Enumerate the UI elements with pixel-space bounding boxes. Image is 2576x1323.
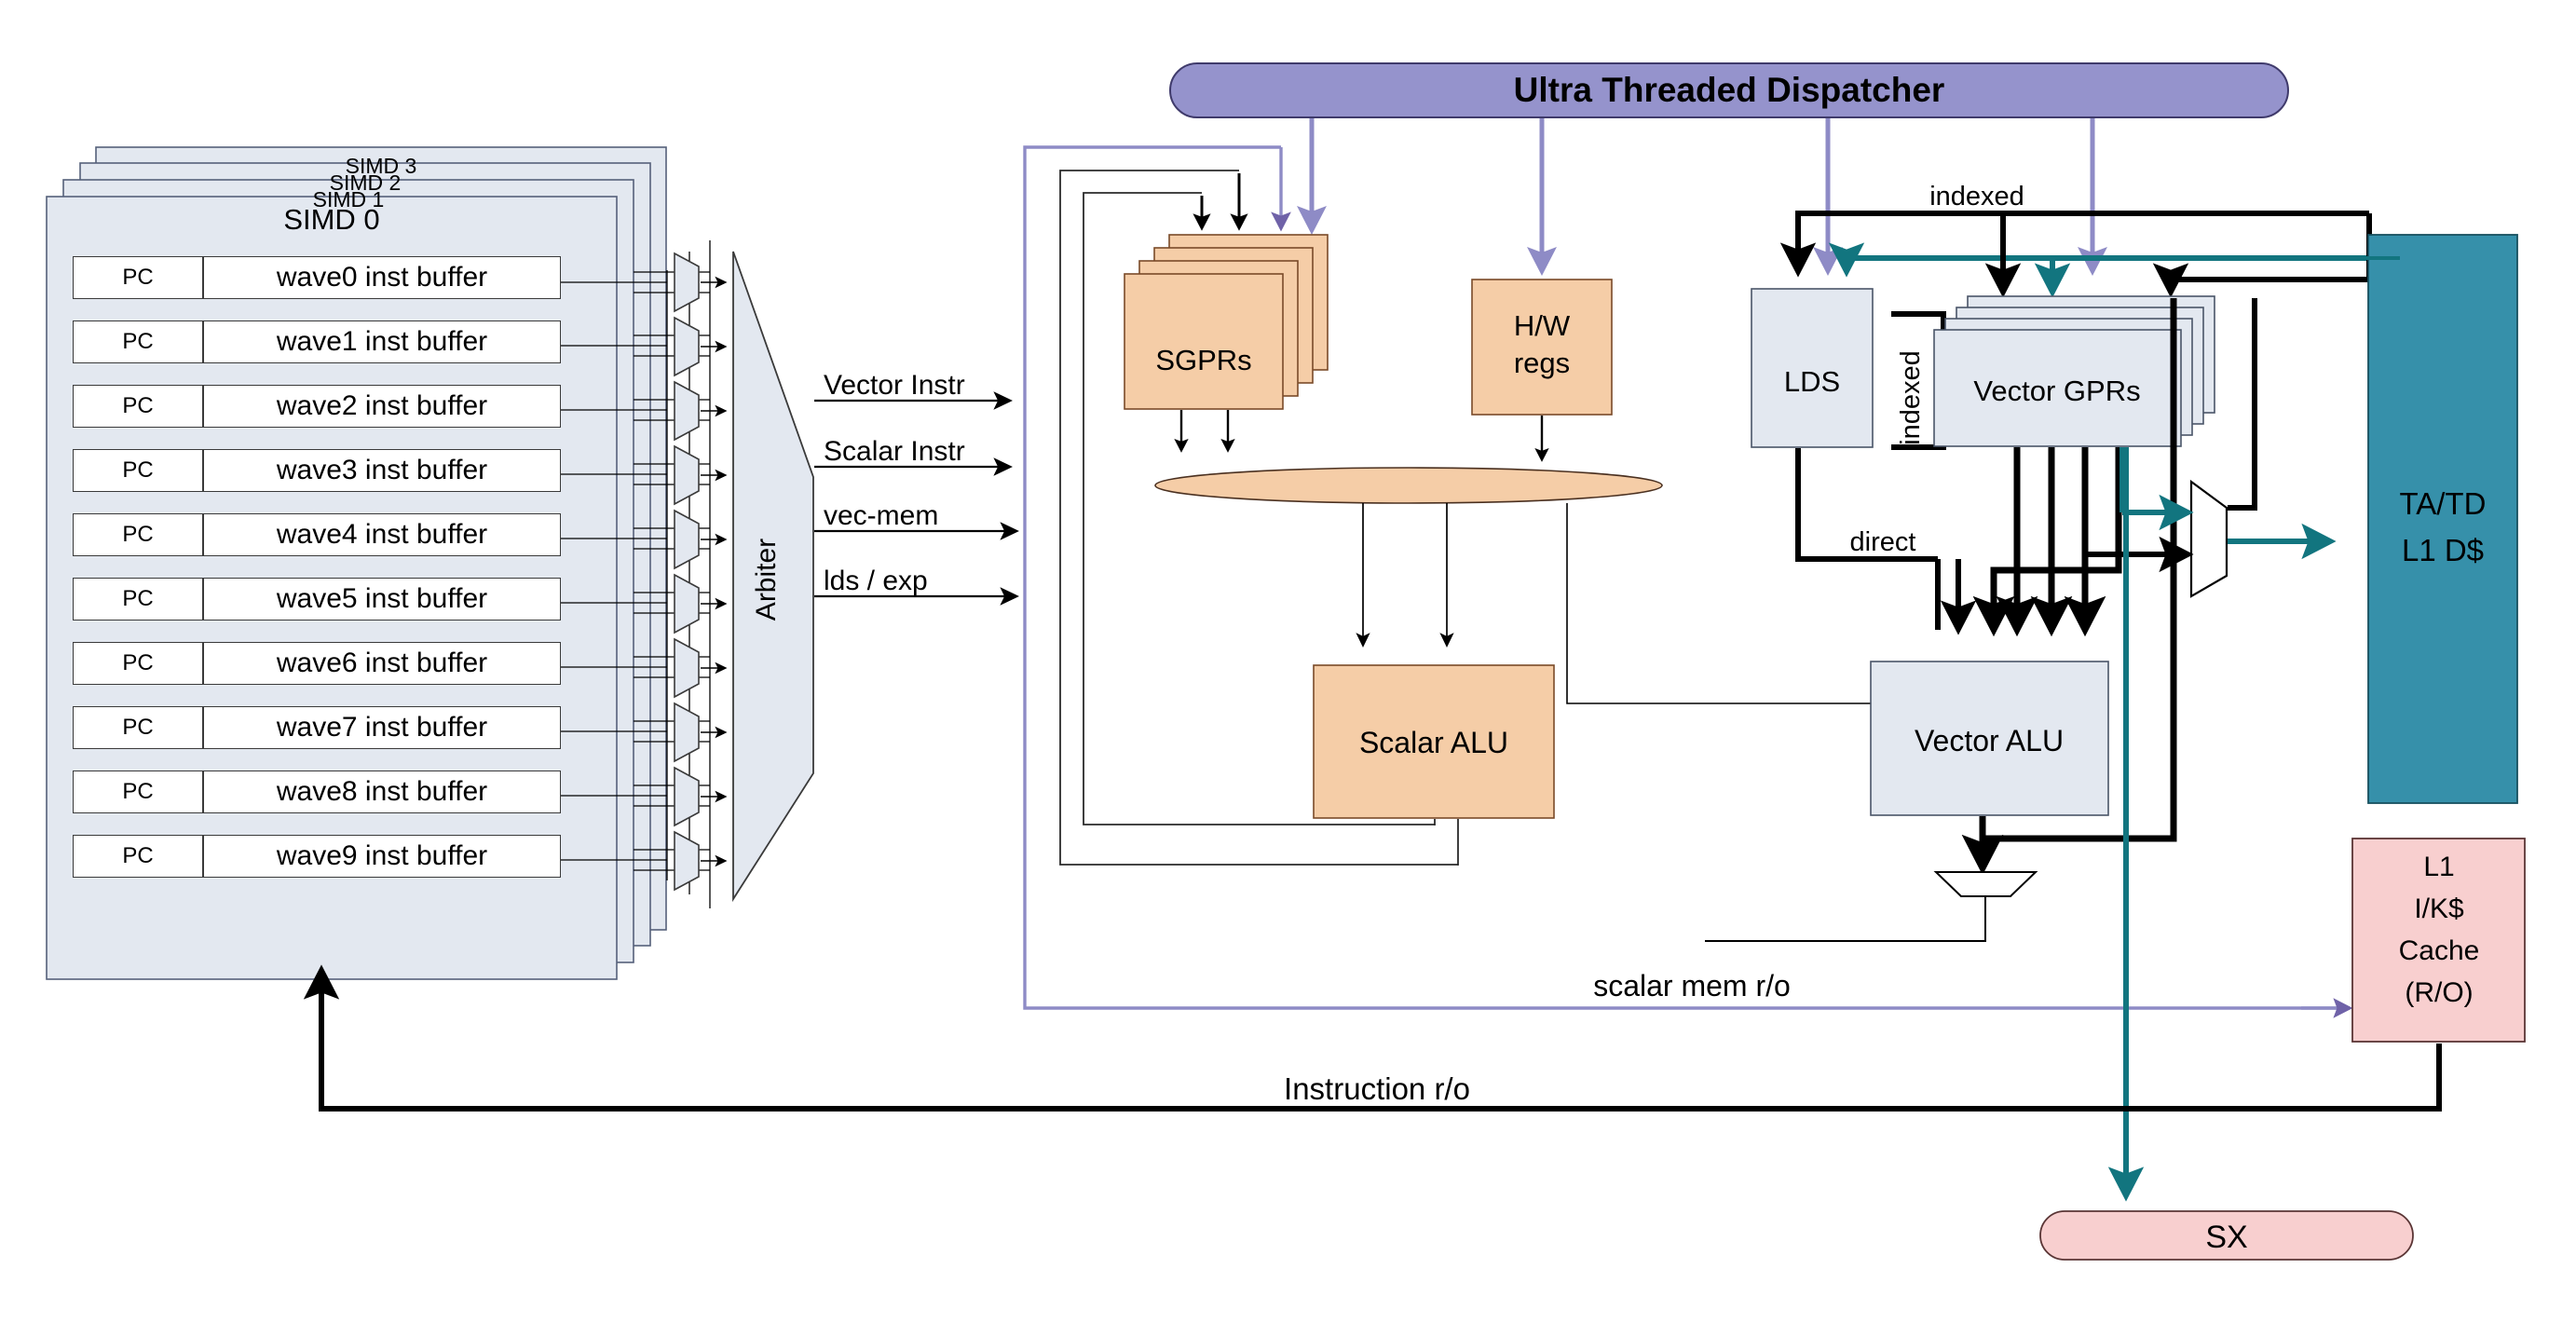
wave-row: PCwave6 inst buffer	[73, 642, 561, 685]
pc-label: PC	[122, 265, 153, 291]
pc-label: PC	[122, 393, 153, 419]
pc-box: PC	[73, 706, 203, 749]
wave-row: PCwave1 inst buffer	[73, 321, 561, 363]
pc-box: PC	[73, 513, 203, 556]
ta-td-label-line2: L1 D$	[2402, 533, 2484, 567]
wave-row: PCwave2 inst buffer	[73, 385, 561, 428]
hw-regs-label-line2: regs	[1514, 347, 1570, 379]
wave-inst-buffer-box: wave5 inst buffer	[203, 578, 561, 621]
wave-inst-buffer-box: wave6 inst buffer	[203, 642, 561, 685]
lds-label: LDS	[1784, 365, 1840, 398]
wave-inst-buffer-box: wave2 inst buffer	[203, 385, 561, 428]
wave-row: PCwave7 inst buffer	[73, 706, 561, 749]
pc-label: PC	[122, 779, 153, 805]
pc-box: PC	[73, 578, 203, 621]
l1-ik-label-line3: Cache	[2399, 935, 2480, 966]
wave-inst-buffer-label: wave0 inst buffer	[277, 262, 487, 293]
scalar-mem-ro-label: scalar mem r/o	[1593, 969, 1791, 1002]
sx-label: SX	[2205, 1220, 2247, 1255]
wave-inst-buffer-label: wave4 inst buffer	[277, 519, 487, 551]
instruction-ro-label: Instruction r/o	[1284, 1071, 1470, 1106]
hw-regs-label-line1: H/W	[1514, 309, 1571, 342]
arbiter-label: Arbiter	[751, 539, 782, 621]
pc-label: PC	[122, 843, 153, 869]
wave-inst-buffer-box: wave4 inst buffer	[203, 513, 561, 556]
pc-label: PC	[122, 457, 153, 484]
arbiter-output-scalar-instr: Scalar Instr	[824, 436, 965, 467]
gpu-architecture-diagram: SIMD 3 SIMD 2 SIMD 1 SIMD 0 Arbiter Vect…	[0, 0, 2576, 1323]
wave-inst-buffer-box: wave9 inst buffer	[203, 835, 561, 878]
wave-row: PCwave4 inst buffer	[73, 513, 561, 556]
wave-inst-buffer-label: wave9 inst buffer	[277, 840, 487, 872]
wave-inst-buffer-box: wave1 inst buffer	[203, 321, 561, 363]
pc-box: PC	[73, 321, 203, 363]
pc-box: PC	[73, 642, 203, 685]
arbiter-output-vector-instr: Vector Instr	[824, 370, 965, 401]
l1-ik-label-line1: L1	[2423, 852, 2454, 882]
wave-row: PCwave5 inst buffer	[73, 578, 561, 621]
pc-box: PC	[73, 449, 203, 492]
sgprs-label: SGPRs	[1155, 344, 1251, 376]
wave-inst-buffer-label: wave3 inst buffer	[277, 455, 487, 486]
pc-label: PC	[122, 650, 153, 676]
vector-gprs-label: Vector GPRs	[1973, 375, 2140, 407]
dispatcher-label: Ultra Threaded Dispatcher	[1514, 71, 1945, 109]
indexed-vertical-label: indexed	[1896, 350, 1926, 445]
wave-inst-buffer-box: wave8 inst buffer	[203, 771, 561, 813]
arbiter-output-vec-mem: vec-mem	[824, 500, 938, 531]
arbiter-output-lds-exp: lds / exp	[824, 566, 928, 596]
wave-row: PCwave0 inst buffer	[73, 256, 561, 299]
pc-box: PC	[73, 385, 203, 428]
pc-box: PC	[73, 771, 203, 813]
wave-inst-buffer-label: wave6 inst buffer	[277, 648, 487, 679]
wave-inst-buffer-box: wave3 inst buffer	[203, 449, 561, 492]
indexed-top-label: indexed	[1929, 182, 2024, 211]
wave-row: PCwave8 inst buffer	[73, 771, 561, 813]
l1-ik-label-line2: I/K$	[2414, 893, 2464, 924]
wave-inst-buffer-box: wave7 inst buffer	[203, 706, 561, 749]
pc-label: PC	[122, 586, 153, 612]
wave-inst-buffer-label: wave8 inst buffer	[277, 776, 487, 808]
wave-inst-buffer-label: wave2 inst buffer	[277, 390, 487, 422]
pc-label: PC	[122, 329, 153, 355]
wave-inst-buffer-label: wave5 inst buffer	[277, 583, 487, 615]
pc-box: PC	[73, 835, 203, 878]
vector-alu-label: Vector ALU	[1915, 724, 2064, 757]
wave-inst-buffer-box: wave0 inst buffer	[203, 256, 561, 299]
pc-label: PC	[122, 715, 153, 741]
l1-ik-label-line4: (R/O)	[2405, 977, 2473, 1008]
ta-td-label-line1: TA/TD	[2400, 486, 2487, 521]
wave-row: PCwave3 inst buffer	[73, 449, 561, 492]
wave-inst-buffer-label: wave7 inst buffer	[277, 712, 487, 743]
pc-label: PC	[122, 522, 153, 548]
simd-label-0: SIMD 0	[283, 203, 379, 236]
pc-box: PC	[73, 256, 203, 299]
wave-inst-buffer-label: wave1 inst buffer	[277, 326, 487, 358]
scalar-alu-label: Scalar ALU	[1359, 726, 1508, 759]
wave-row: PCwave9 inst buffer	[73, 835, 561, 878]
direct-label: direct	[1850, 527, 1916, 557]
